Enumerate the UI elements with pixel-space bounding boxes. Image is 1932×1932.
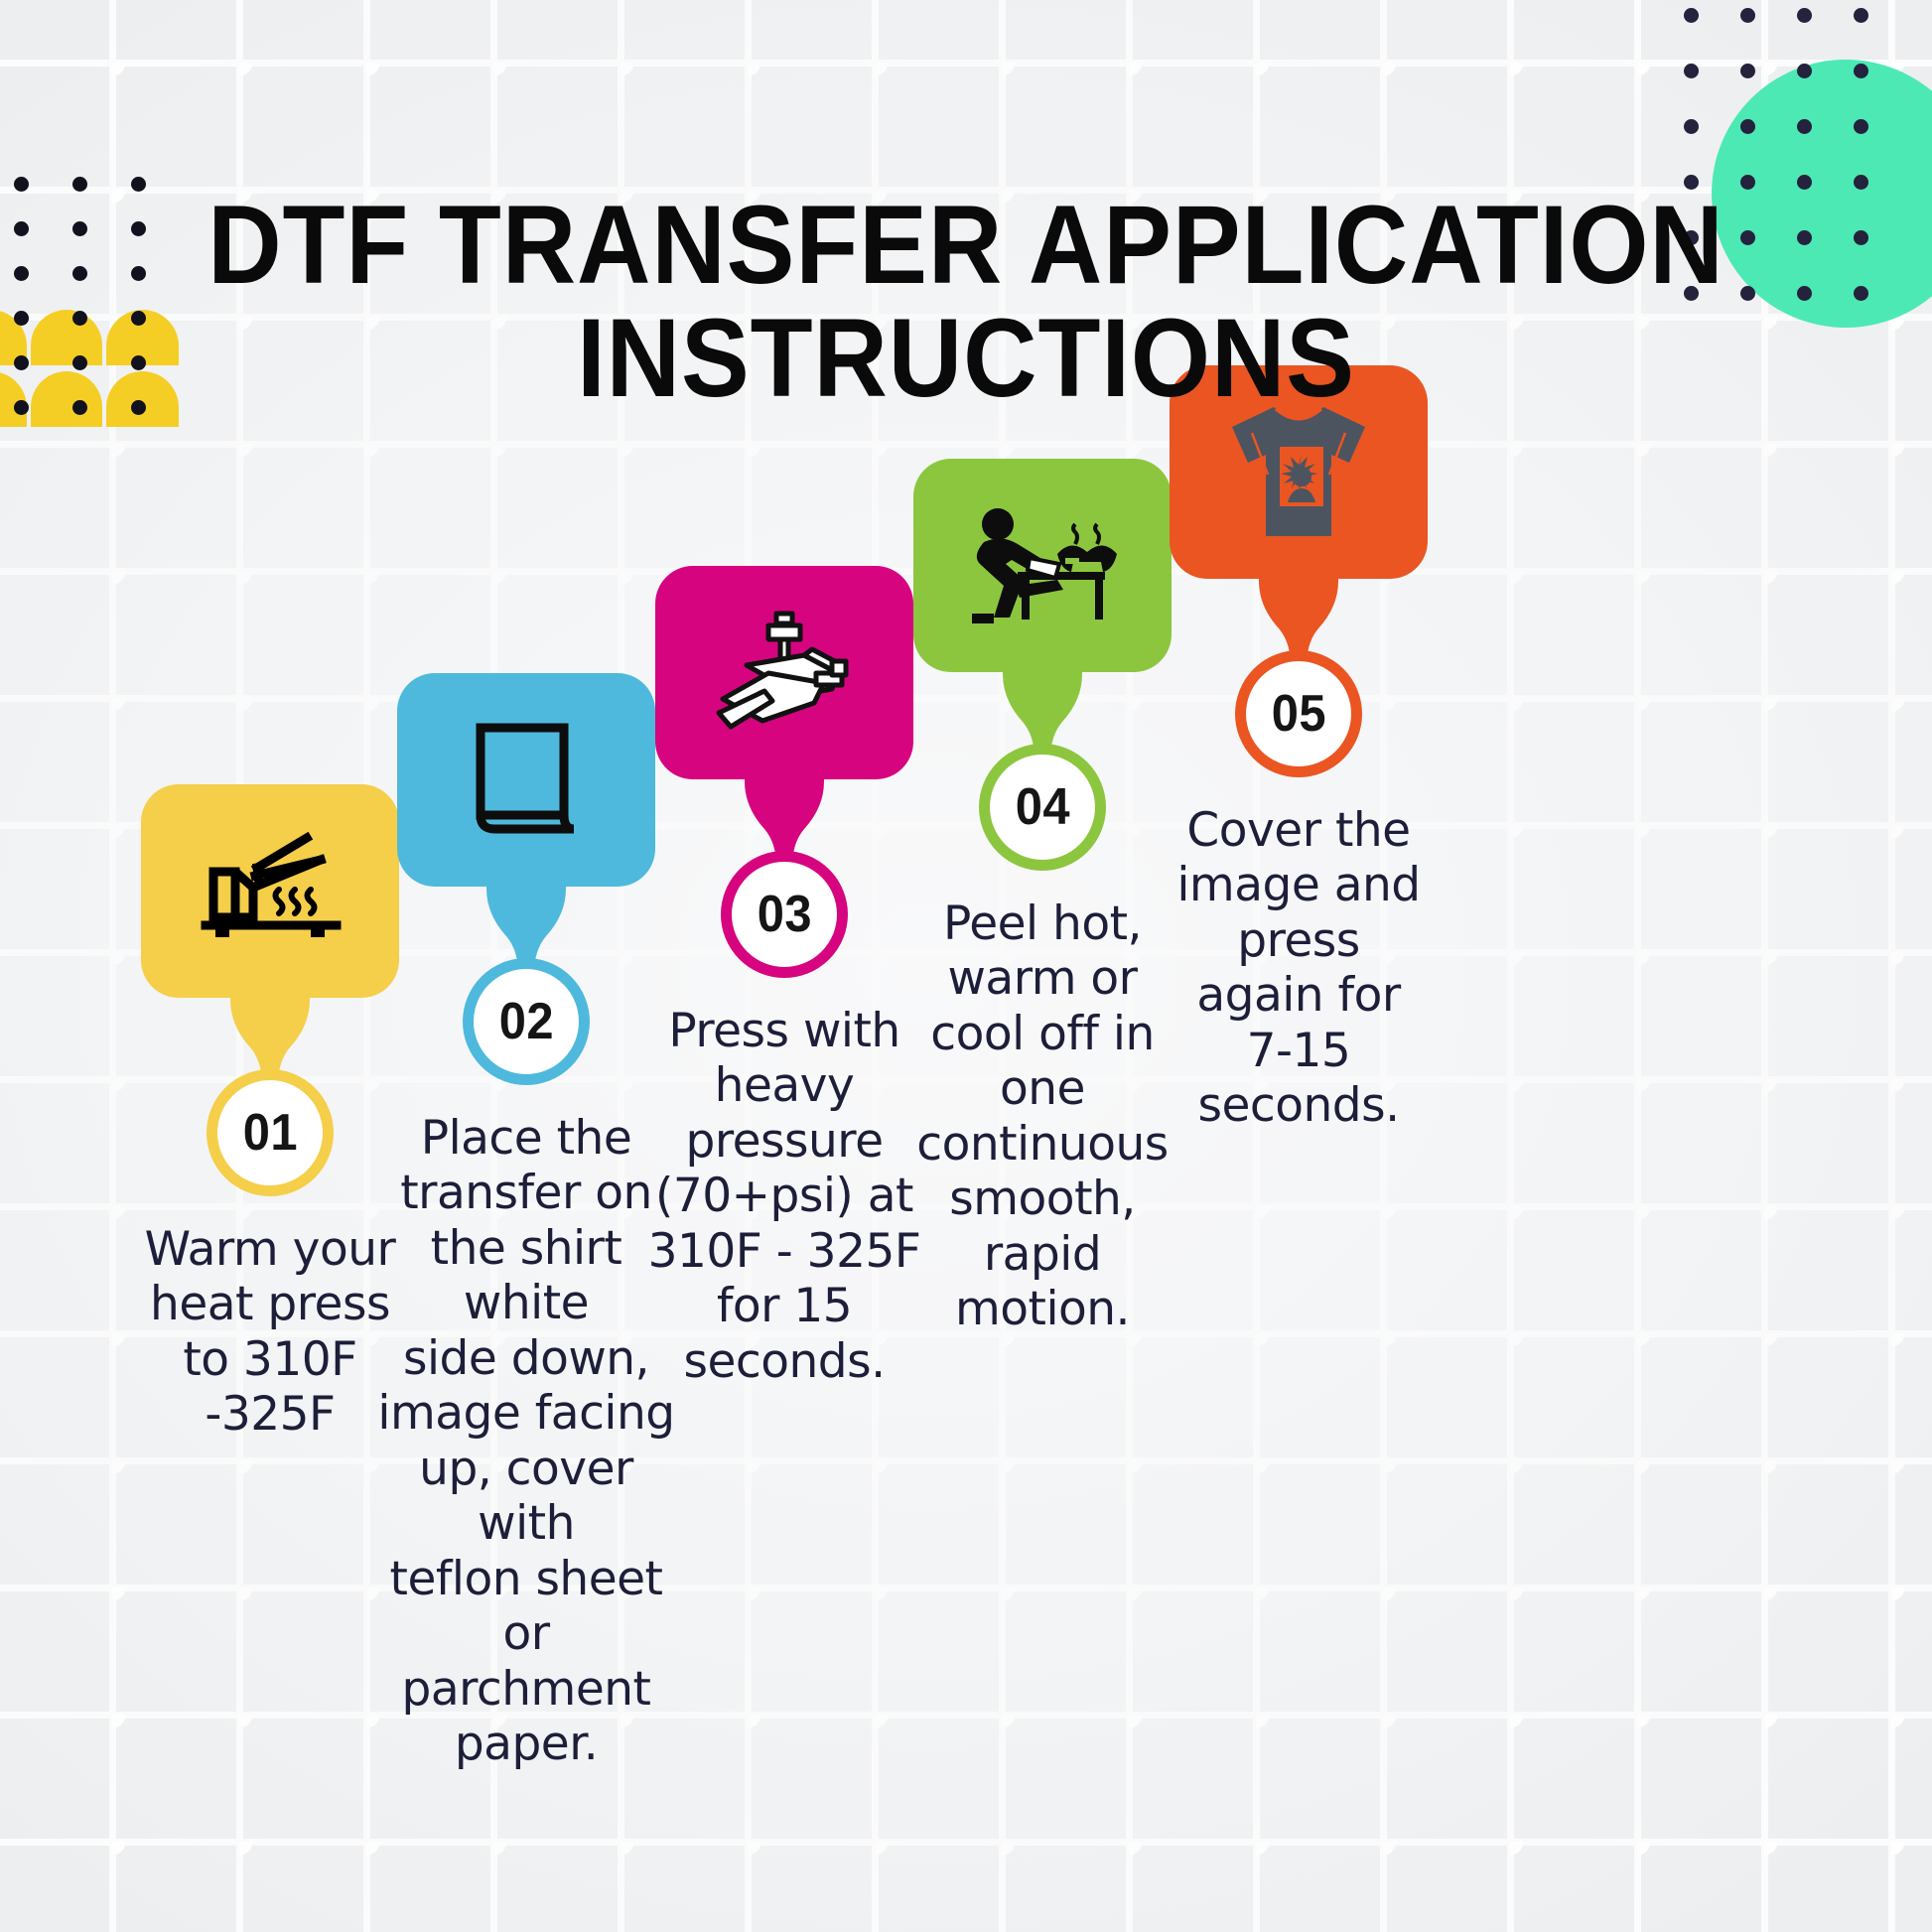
step-03-icon-card xyxy=(655,566,913,779)
step-04: 04 Peel hot, warm or cool off in one con… xyxy=(894,459,1191,1337)
step-03-number: 03 xyxy=(757,885,811,944)
step-02-number: 02 xyxy=(498,992,553,1051)
step-04-icon-card xyxy=(913,459,1172,672)
heat-press-pressing-icon xyxy=(705,604,864,743)
step-01-caption: Warm your heat press to 310F -325F xyxy=(121,1222,419,1443)
heat-press-icon xyxy=(196,832,345,951)
step-01: 01 Warm your heat press to 310F -325F xyxy=(121,784,419,1443)
transfer-sheet-icon xyxy=(457,716,596,845)
step-05-caption: Cover the image and press again for 7-15… xyxy=(1160,803,1438,1134)
step-02-number-badge: 02 xyxy=(463,958,590,1085)
peeling-worker-icon xyxy=(958,496,1127,635)
step-01-number-badge: 01 xyxy=(207,1069,334,1196)
step-02-caption: Place the transfer on the shirt white si… xyxy=(377,1111,675,1771)
step-04-number-badge: 04 xyxy=(979,744,1106,871)
step-03-caption: Press with heavy pressure (70+psi) at 31… xyxy=(640,1004,928,1389)
step-01-icon-card xyxy=(141,784,399,998)
step-05-number-badge: 05 xyxy=(1235,650,1362,777)
step-02: 02 Place the transfer on the shirt white… xyxy=(377,673,675,1771)
infographic-canvas: DTF TRANSFER APPLICATION INSTRUCTIONS xyxy=(0,0,1932,1932)
page-title: DTF TRANSFER APPLICATION INSTRUCTIONS xyxy=(0,189,1932,415)
step-04-caption: Peel hot, warm or cool off in one contin… xyxy=(898,897,1186,1337)
title-line-2: INSTRUCTIONS xyxy=(77,302,1855,415)
step-01-number: 01 xyxy=(242,1103,297,1163)
step-02-icon-card xyxy=(397,673,655,887)
step-05-number: 05 xyxy=(1271,684,1325,744)
step-05: 05 Cover the image and press again for 7… xyxy=(1150,365,1448,1134)
step-03: 03 Press with heavy pressure (70+psi) at… xyxy=(635,566,933,1389)
step-03-number-badge: 03 xyxy=(721,851,848,978)
step-04-number: 04 xyxy=(1015,777,1069,837)
title-line-1: DTF TRANSFER APPLICATION xyxy=(77,189,1855,302)
